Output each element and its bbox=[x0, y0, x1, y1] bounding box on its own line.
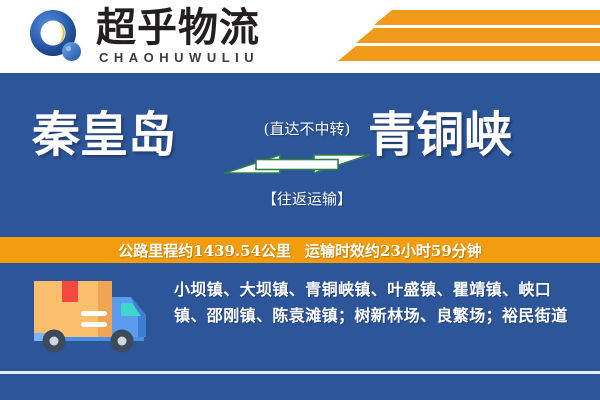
banner-header: 超乎物流 CHAOHUWULIU bbox=[0, 0, 600, 73]
logistics-route-banner: 超乎物流 CHAOHUWULIU 秦皇岛 (直达不中转) 【往返运输】 青铜峡 … bbox=[0, 0, 600, 400]
duration-label: 运输时效约23小时59分钟 bbox=[305, 240, 482, 261]
direct-route-note: (直达不中转) bbox=[248, 118, 366, 139]
delivery-truck-icon bbox=[26, 275, 152, 357]
route-info-bar: 公路里程约1439.54公里 运输时效约23小时59分钟 bbox=[0, 237, 600, 263]
distance-label: 公路里程约1439.54公里 bbox=[118, 240, 291, 261]
orange-speed-stripes-icon bbox=[330, 4, 600, 68]
coverage-areas-text: 小坝镇、大坝镇、青铜峡镇、叶盛镇、瞿靖镇、峡口镇、邵刚镇、陈袁滩镇；树新林场、良… bbox=[174, 277, 578, 329]
brand-name-chinese: 超乎物流 bbox=[96, 6, 260, 50]
origin-city-label: 秦皇岛 bbox=[32, 107, 176, 163]
coverage-section: 小坝镇、大坝镇、青铜峡镇、叶盛镇、瞿靖镇、峡口镇、邵刚镇、陈袁滩镇；树新林场、良… bbox=[0, 263, 600, 400]
bottom-divider bbox=[0, 371, 600, 374]
route-section: 秦皇岛 (直达不中转) 【往返运输】 青铜峡 bbox=[0, 73, 600, 237]
destination-city-label: 青铜峡 bbox=[368, 107, 512, 163]
round-trip-note: 【往返运输】 bbox=[240, 188, 374, 209]
company-logo-icon bbox=[28, 9, 86, 65]
brand-name-pinyin: CHAOHUWULIU bbox=[99, 50, 259, 65]
bidirectional-arrow-icon bbox=[222, 144, 372, 184]
